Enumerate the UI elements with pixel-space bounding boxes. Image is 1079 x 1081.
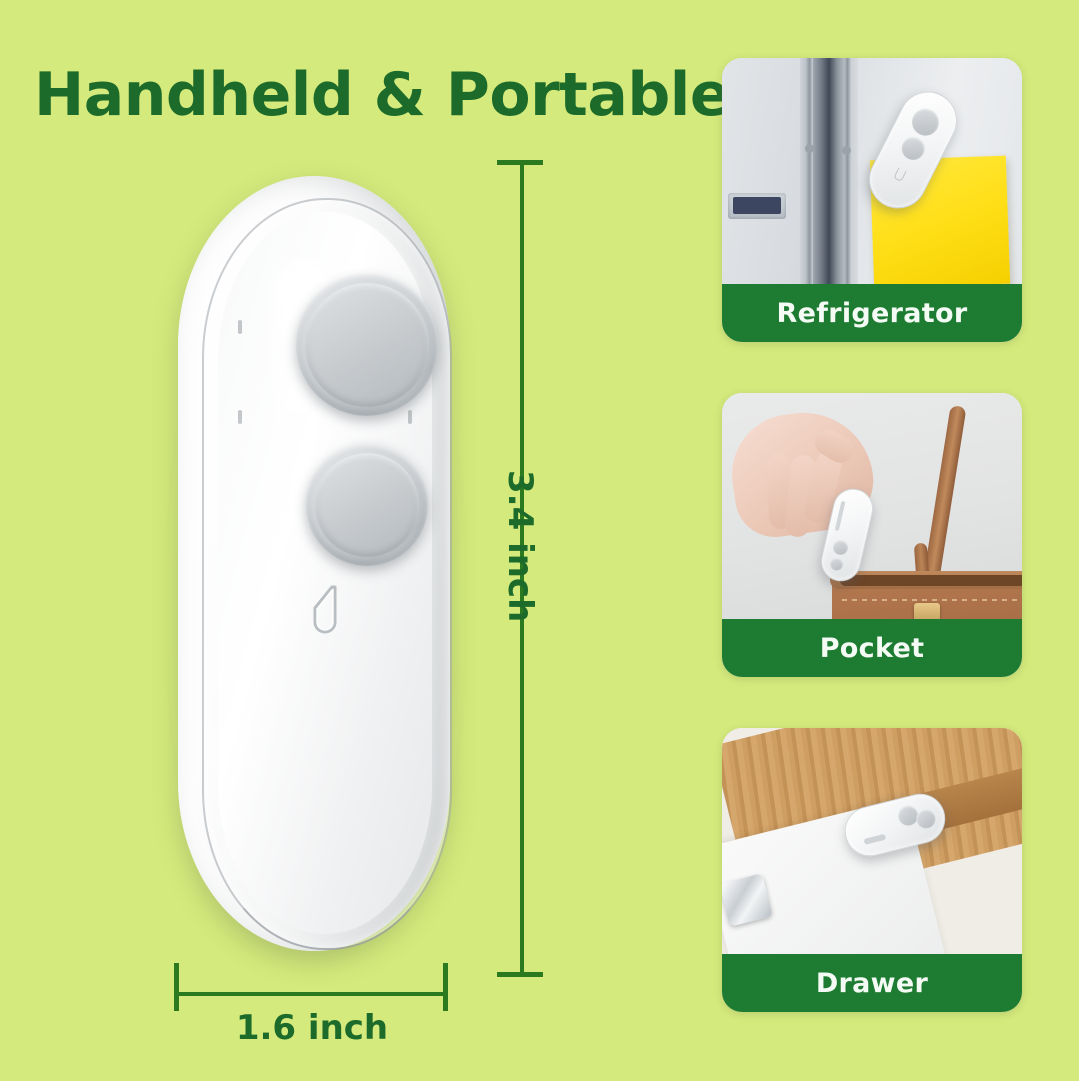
device-slot xyxy=(835,501,846,531)
card-label-text: Pocket xyxy=(820,633,925,664)
card-label-text: Refrigerator xyxy=(777,298,968,329)
width-dimension-label: 1.6 inch xyxy=(176,1008,448,1048)
device-button xyxy=(832,538,850,556)
power-button-large xyxy=(296,274,438,416)
fridge-display-screen xyxy=(733,197,781,214)
device-body xyxy=(178,176,450,951)
height-dimension-cap-bottom xyxy=(497,972,543,977)
card-label-text: Drawer xyxy=(816,968,928,999)
device-button xyxy=(898,133,929,164)
page-title: Handheld & Portable xyxy=(34,60,730,130)
height-dimension-cap-top xyxy=(497,160,543,165)
device-button xyxy=(907,104,943,140)
device-inner-face xyxy=(218,212,432,934)
use-case-card-pocket: Pocket xyxy=(722,393,1022,677)
seal-button-small xyxy=(306,444,428,566)
drawer-photo xyxy=(722,728,1022,954)
device-slot xyxy=(863,834,886,845)
fridge-left-door xyxy=(722,58,800,284)
card-label-banner-pocket: Pocket xyxy=(722,619,1022,677)
pocket-photo xyxy=(722,393,1022,619)
vent-slot-icon xyxy=(238,410,242,424)
product-device-image xyxy=(168,168,460,960)
card-label-banner-refrigerator: Refrigerator xyxy=(722,284,1022,342)
button-face xyxy=(305,283,429,407)
use-case-card-refrigerator: Refrigerator xyxy=(722,58,1022,342)
fridge-handle-knob xyxy=(842,146,851,155)
refrigerator-photo xyxy=(722,58,1022,284)
vent-slot-icon xyxy=(408,410,412,424)
fridge-handle-knob xyxy=(805,144,814,153)
fridge-handle-icon xyxy=(844,58,851,284)
width-dimension-cap-left xyxy=(174,963,179,1011)
width-dimension-cap-right xyxy=(443,963,448,1011)
height-dimension-label: 3.4 inch xyxy=(500,470,540,622)
droplet-logo-icon xyxy=(306,584,344,636)
bag-stitching xyxy=(842,599,1022,601)
device-button xyxy=(829,556,845,572)
vent-slot-icon xyxy=(238,320,242,334)
width-dimension-line xyxy=(176,992,447,996)
button-face xyxy=(315,453,419,557)
fridge-handle-icon xyxy=(806,58,813,284)
use-case-card-drawer: Drawer xyxy=(722,728,1022,1012)
card-label-banner-drawer: Drawer xyxy=(722,954,1022,1012)
bag-opening xyxy=(840,575,1022,586)
product-feature-graphic: Handheld & Portable xyxy=(0,0,1079,1081)
device-button xyxy=(914,807,937,830)
droplet-logo-icon xyxy=(893,167,906,182)
bag-buckle-icon xyxy=(914,603,940,619)
